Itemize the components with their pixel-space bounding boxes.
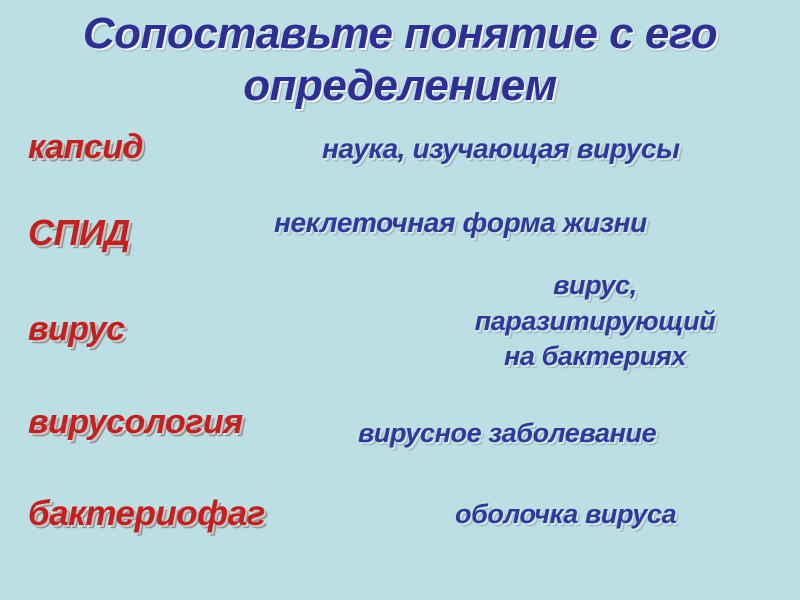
term-virus[interactable]: вирус: [28, 310, 125, 349]
page-title-line-1: Сопоставьте понятие с его: [83, 9, 717, 58]
term-virusologia[interactable]: вирусология: [28, 403, 243, 442]
definition-virus-parasitizing-bacteria-line-1: вирус,: [400, 268, 790, 304]
slide-canvas: Сопоставьте понятие с его определением к…: [0, 0, 800, 600]
definition-virus-envelope[interactable]: оболочка вируса: [455, 499, 676, 530]
definition-science-studying-viruses[interactable]: наука, изучающая вирусы: [322, 133, 680, 165]
term-bakteriofag[interactable]: бактериофаг: [28, 494, 265, 534]
term-capsid[interactable]: капсид: [28, 128, 143, 167]
definition-virus-parasitizing-bacteria-line-2: паразитирующий: [400, 304, 790, 340]
term-spid[interactable]: СПИД: [28, 212, 130, 254]
page-title-line-2: определением: [0, 60, 800, 112]
definition-viral-disease[interactable]: вирусное заболевание: [358, 418, 656, 449]
definition-virus-parasitizing-bacteria-line-3: на бактериях: [400, 339, 790, 375]
definition-virus-parasitizing-bacteria[interactable]: вирус, паразитирующий на бактериях: [400, 268, 790, 375]
page-title: Сопоставьте понятие с его определением: [0, 8, 800, 112]
definition-noncellular-life-form[interactable]: неклеточная форма жизни: [274, 207, 647, 239]
